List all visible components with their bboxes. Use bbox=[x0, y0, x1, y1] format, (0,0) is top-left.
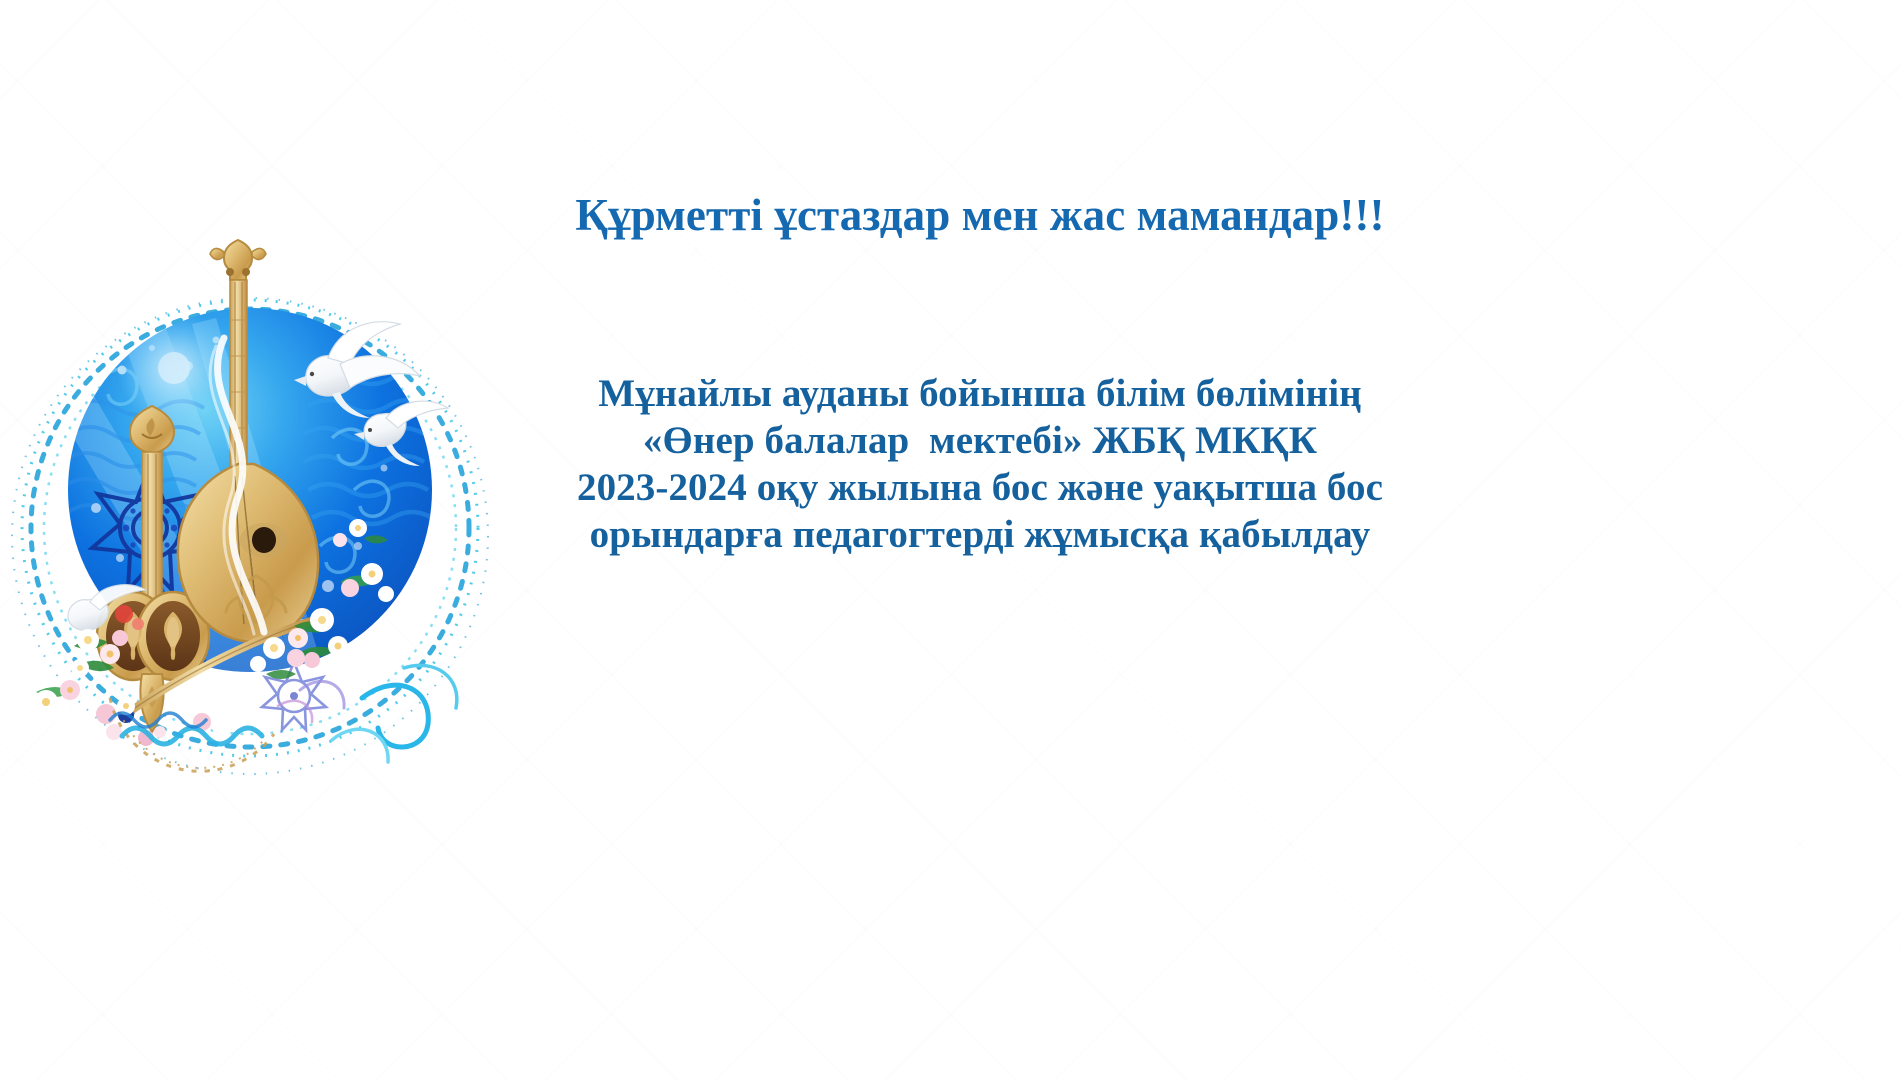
body-line-1: Мұнайлы ауданы бойынша білім бөлімінің bbox=[520, 370, 1440, 417]
body-line-4: орындарға педагогтерді жұмысқа қабылдау bbox=[520, 511, 1440, 558]
body-line-3: 2023-2024 оқу жылына бос және уақытша бо… bbox=[520, 464, 1440, 511]
page-title: Құрметті ұстаздар мен жас мамандар!!! bbox=[520, 190, 1440, 240]
text-column: Құрметті ұстаздар мен жас мамандар!!! Мұ… bbox=[520, 190, 1440, 558]
body-line-2: «Өнер балалар мектебі» ЖБҚ МКҚК bbox=[520, 417, 1440, 464]
kazakh-folk-music-illustration bbox=[2, 228, 542, 788]
announcement-body: Мұнайлы ауданы бойынша білім бөлімінің «… bbox=[520, 370, 1440, 558]
announcement-slide: Құрметті ұстаздар мен жас мамандар!!! Мұ… bbox=[0, 0, 1902, 1080]
